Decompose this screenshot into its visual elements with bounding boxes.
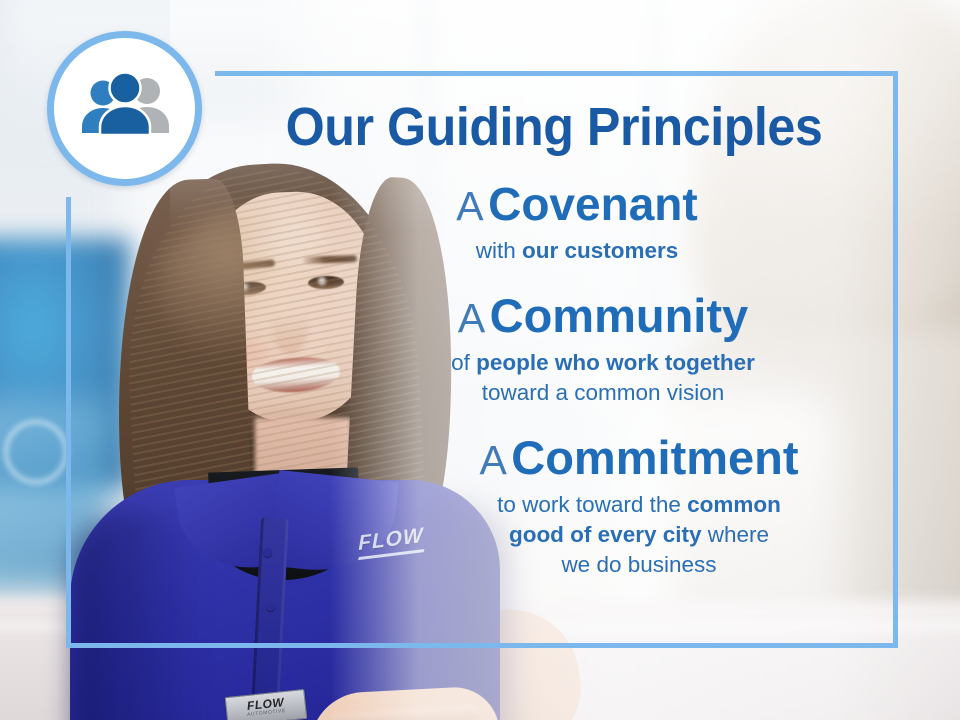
principle-subtitle-prefix: to work toward the bbox=[497, 492, 687, 517]
page-title: Our Guiding Principles bbox=[239, 96, 870, 158]
principle-subtitle: of people who work together toward a com… bbox=[326, 348, 880, 407]
principle-title: A Covenant bbox=[274, 180, 880, 230]
principle-subtitle: with our customers bbox=[274, 236, 880, 266]
principle-subtitle-line-3: we do business bbox=[398, 550, 880, 580]
principle-article: A bbox=[458, 295, 485, 341]
frame-border-left bbox=[66, 197, 71, 648]
principle-subtitle-emphasis: common bbox=[687, 492, 781, 517]
people-group-icon bbox=[73, 73, 177, 145]
principle-keyword: Covenant bbox=[488, 178, 698, 230]
principle-subtitle-emphasis-2: good of every city bbox=[509, 522, 702, 547]
principles-list: A Covenant with our customers A Communit… bbox=[230, 180, 880, 585]
principle-subtitle-suffix: where bbox=[702, 522, 770, 547]
principle-article: A bbox=[456, 183, 483, 229]
principle-subtitle-prefix: with bbox=[476, 238, 522, 263]
principle-subtitle: to work toward the common good of every … bbox=[398, 490, 880, 579]
principle-title: A Community bbox=[326, 291, 880, 342]
people-badge bbox=[47, 31, 202, 186]
person-shirt-button bbox=[266, 602, 275, 611]
person-shirt-shadow bbox=[70, 510, 200, 720]
principle-article: A bbox=[479, 437, 506, 483]
principle-subtitle-line-2: toward a common vision bbox=[326, 378, 880, 408]
frame-border-bottom bbox=[66, 643, 898, 648]
principle-subtitle-emphasis: people who work together bbox=[476, 350, 755, 375]
principle-subtitle-line-1: to work toward the common bbox=[398, 490, 880, 520]
principle-commitment: A Commitment to work toward the common g… bbox=[398, 433, 880, 579]
principle-community: A Community of people who work together … bbox=[326, 291, 880, 407]
principle-subtitle-line-2: good of every city where bbox=[398, 520, 880, 550]
principle-subtitle-emphasis: our customers bbox=[522, 238, 678, 263]
photo-car-badge bbox=[4, 420, 68, 484]
frame-border-top bbox=[215, 71, 898, 76]
principle-subtitle-line-1: of people who work together bbox=[326, 348, 880, 378]
frame-border-right bbox=[893, 71, 898, 648]
principle-keyword: Community bbox=[490, 289, 749, 342]
guiding-principles-poster: FLOW FLOW AUTOMOTIVE Our Guiding Princip… bbox=[0, 0, 960, 720]
principle-subtitle-prefix: of bbox=[451, 350, 476, 375]
principle-covenant: A Covenant with our customers bbox=[274, 180, 880, 265]
principle-keyword: Commitment bbox=[511, 431, 798, 484]
principle-title: A Commitment bbox=[398, 433, 880, 484]
